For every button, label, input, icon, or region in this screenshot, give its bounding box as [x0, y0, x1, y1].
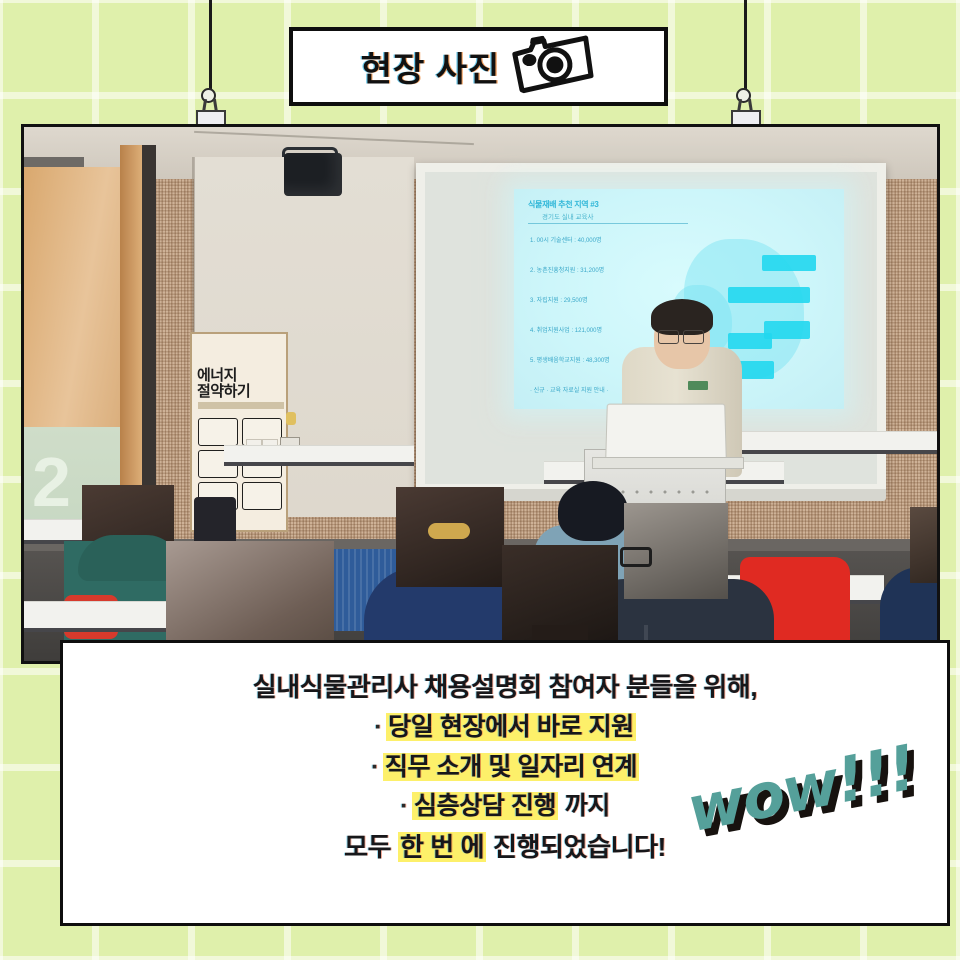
photo-laptop: [605, 404, 727, 461]
photo-hair-clip: [428, 523, 470, 539]
caption-highlight: 당일 현장에서 바로 지원: [386, 713, 636, 741]
caption-line-2: ·당일 현장에서 바로 지원: [63, 708, 947, 748]
hanger-string: [744, 0, 747, 92]
caption-text: 실내식물관리사 채용설명회 참여자 분들을 위해,: [253, 672, 758, 702]
photo-presenter-badge: [688, 381, 708, 390]
photo-door-frame-wood: [120, 145, 144, 505]
photo-table: [224, 445, 414, 466]
slide-divider: [528, 223, 688, 224]
caption-text: 모두: [344, 832, 398, 862]
photo-table: [724, 431, 940, 454]
slide-subheading: 경기도 실내 교육사: [542, 211, 593, 221]
photo-laptop-base: [592, 457, 744, 469]
caption-text: 진행되었습니다!: [486, 832, 666, 862]
photo-presenter-glasses: [658, 330, 679, 344]
slide-item: 4. 취업지원사업 : 121,000명: [530, 327, 670, 336]
caption-text: 까지: [558, 792, 610, 820]
event-photo: 2 에너지절약하기 식물재배 추천 지역 #3 경기도 실내 교육사 1. 00…: [21, 124, 940, 664]
hanger-string: [209, 0, 212, 92]
left-hanger: [190, 0, 230, 130]
page-title: 현장 사진: [361, 42, 501, 91]
header-sign: 현장 사진: [289, 27, 668, 106]
photo-attendee-glasses: [620, 547, 652, 567]
camera-icon: [508, 31, 599, 100]
photo-wall-speaker: [284, 153, 342, 196]
photo-door-frame-dark: [142, 145, 156, 505]
caption-line-1: 실내식물관리사 채용설명회 참여자 분들을 위해,: [63, 667, 947, 708]
caption-bullet: ·: [371, 753, 379, 781]
caption-bullet: ·: [400, 792, 408, 820]
right-hanger: [725, 0, 765, 130]
caption-highlight: 한 번 에: [398, 832, 486, 862]
caption-highlight: 심층상담 진행: [412, 792, 558, 820]
photo-presenter-glasses: [683, 330, 704, 344]
caption-line-5: 모두 한 번 에 진행되었습니다!: [63, 827, 947, 868]
slide-item: 2. 농촌진흥청지원 : 31,200명: [530, 267, 670, 276]
photo-attendee-head: [558, 481, 628, 541]
poster-title: 에너지절약하기: [197, 368, 250, 400]
photo-attendee-head: [910, 507, 940, 583]
photo-doorbell: [286, 412, 296, 425]
caption-highlight: 직무 소개 및 일자리 연계: [383, 753, 639, 781]
caption-bullet: ·: [374, 713, 382, 741]
promo-card: 현장 사진 2 에너지절약하기: [0, 0, 960, 960]
slide-item: 1. 00시 기술센터 : 40,000명: [530, 237, 670, 246]
poster-subtitle-bar: [198, 402, 284, 409]
slide-heading: 식물재배 추천 지역 #3: [528, 199, 599, 210]
slide-item: 3. 자립지원 : 29,500명: [530, 297, 670, 306]
